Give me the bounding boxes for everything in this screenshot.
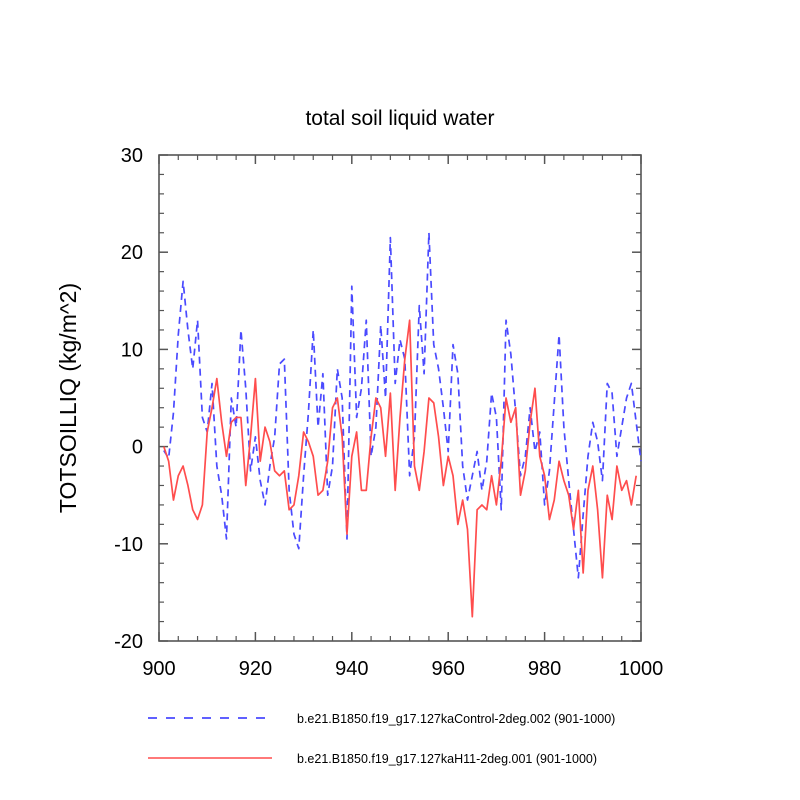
x-tick-label: 940 — [335, 658, 368, 680]
chart-legend: b.e21.B1850.f19_g17.127kaControl-2deg.00… — [148, 712, 615, 766]
y-tick-label: -10 — [114, 534, 143, 556]
y-tick-label: 20 — [121, 242, 143, 264]
legend-label-control: b.e21.B1850.f19_g17.127kaControl-2deg.00… — [297, 712, 615, 726]
chart-figure: total soil liquid water TOTSOILLIQ (kg/m… — [0, 0, 800, 800]
x-tick-label: 980 — [528, 658, 561, 680]
series-line-1 — [164, 320, 636, 616]
data-series-layer — [164, 233, 641, 617]
legend-label-h11: b.e21.B1850.f19_g17.127kaH11-2deg.001 (9… — [297, 752, 597, 766]
chart-title: total soil liquid water — [305, 107, 494, 130]
series-line-0 — [164, 233, 641, 578]
y-tick-label: 30 — [121, 145, 143, 167]
x-tick-label: 960 — [432, 658, 465, 680]
time-series-plot: total soil liquid water TOTSOILLIQ (kg/m… — [0, 0, 800, 800]
y-axis-label: TOTSOILLIQ (kg/m^2) — [55, 283, 81, 513]
x-tick-label: 1000 — [619, 658, 664, 680]
y-tick-label: -20 — [114, 631, 143, 653]
x-tick-label: 900 — [142, 658, 175, 680]
x-tick-label: 920 — [239, 658, 272, 680]
y-tick-label: 10 — [121, 339, 143, 361]
y-tick-label: 0 — [132, 437, 143, 459]
